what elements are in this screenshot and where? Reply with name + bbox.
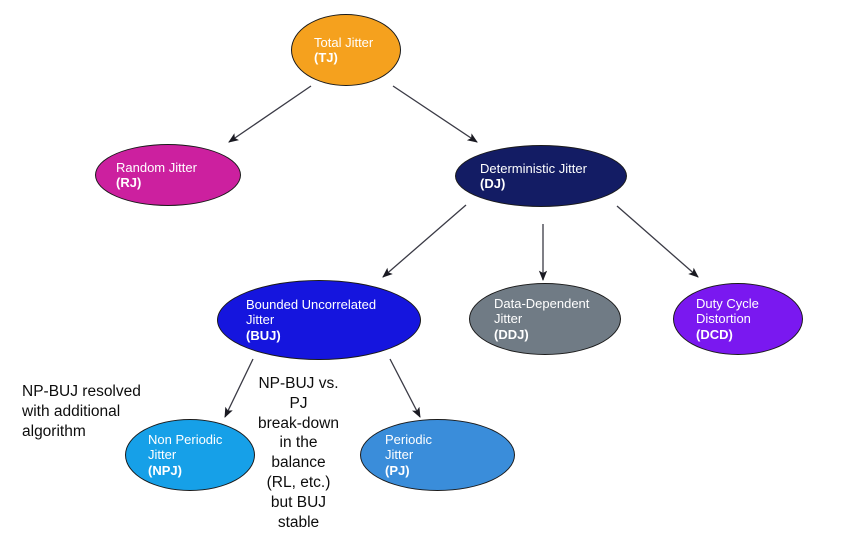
node-label-block: Total Jitter(TJ) bbox=[292, 35, 422, 66]
node-abbreviation: (TJ) bbox=[314, 50, 422, 65]
node-label-line-1: Bounded Uncorrelated bbox=[246, 297, 448, 312]
node-abbreviation: (DJ) bbox=[480, 176, 650, 191]
annotation-line: PJ bbox=[258, 394, 339, 414]
node-bounded-uncorrelated-jitter[interactable]: Bounded UncorrelatedJitter(BUJ) bbox=[217, 280, 421, 360]
node-abbreviation: (BUJ) bbox=[246, 328, 448, 343]
annotation-line: NP-BUJ resolved bbox=[22, 382, 141, 402]
node-abbreviation: (RJ) bbox=[116, 175, 260, 190]
annotation-line: (RL, etc.) bbox=[258, 473, 339, 493]
node-total-jitter[interactable]: Total Jitter(TJ) bbox=[291, 14, 401, 86]
node-label-line-1: Periodic bbox=[385, 432, 538, 447]
node-abbreviation: (DCD) bbox=[696, 327, 824, 342]
annotation-line: balance bbox=[258, 453, 339, 473]
node-label-line-2: Jitter bbox=[246, 312, 448, 327]
node-label-line-1: Data-Dependent bbox=[494, 296, 644, 311]
node-non-periodic-jitter[interactable]: Non PeriodicJitter(NPJ) bbox=[125, 419, 255, 491]
node-label-line-2: Distortion bbox=[696, 311, 824, 326]
annotation-line: NP-BUJ vs. bbox=[258, 374, 339, 394]
annotation-line: with additional bbox=[22, 402, 141, 422]
node-abbreviation: (NPJ) bbox=[148, 463, 276, 478]
node-label-line-1: Duty Cycle bbox=[696, 296, 824, 311]
node-abbreviation: (PJ) bbox=[385, 463, 538, 478]
node-label-block: Random Jitter(RJ) bbox=[96, 160, 260, 191]
edge-tj-to-rj bbox=[229, 86, 311, 142]
annotation-npbuj-vs-pj-note: NP-BUJ vs.PJbreak-downin thebalance(RL, … bbox=[258, 374, 339, 533]
edge-tj-to-dj bbox=[393, 86, 477, 142]
node-label-line-1: Non Periodic bbox=[148, 432, 276, 447]
node-label-line-1: Random Jitter bbox=[116, 160, 260, 175]
node-label-line-1: Total Jitter bbox=[314, 35, 422, 50]
node-label-line-2: Jitter bbox=[385, 447, 538, 462]
annotation-line: but BUJ bbox=[258, 493, 339, 513]
annotation-npbuj-resolution-note: NP-BUJ resolvedwith additionalalgorithm bbox=[22, 382, 141, 441]
node-random-jitter[interactable]: Random Jitter(RJ) bbox=[95, 144, 241, 206]
annotation-line: algorithm bbox=[22, 422, 141, 442]
node-data-dependent-jitter[interactable]: Data-DependentJitter(DDJ) bbox=[469, 283, 621, 355]
node-label-block: Data-DependentJitter(DDJ) bbox=[470, 296, 644, 342]
node-label-line-2: Jitter bbox=[494, 311, 644, 326]
node-label-block: PeriodicJitter(PJ) bbox=[361, 432, 538, 478]
node-abbreviation: (DDJ) bbox=[494, 327, 644, 342]
diagram-canvas: Total Jitter(TJ)Random Jitter(RJ)Determi… bbox=[0, 0, 846, 550]
edge-buj-to-pj bbox=[390, 359, 420, 417]
node-label-block: Bounded UncorrelatedJitter(BUJ) bbox=[218, 297, 448, 343]
annotation-line: break-down bbox=[258, 414, 339, 434]
node-periodic-jitter[interactable]: PeriodicJitter(PJ) bbox=[360, 419, 515, 491]
edge-buj-to-npj bbox=[225, 359, 253, 417]
node-label-line-1: Deterministic Jitter bbox=[480, 161, 650, 176]
node-label-block: Non PeriodicJitter(NPJ) bbox=[126, 432, 276, 478]
annotation-line: in the bbox=[258, 433, 339, 453]
node-duty-cycle-distortion[interactable]: Duty CycleDistortion(DCD) bbox=[673, 283, 803, 355]
edge-dj-to-dcd bbox=[617, 206, 698, 277]
annotation-line: stable bbox=[258, 513, 339, 533]
node-label-line-2: Jitter bbox=[148, 447, 276, 462]
node-deterministic-jitter[interactable]: Deterministic Jitter(DJ) bbox=[455, 145, 627, 207]
node-label-block: Duty CycleDistortion(DCD) bbox=[674, 296, 824, 342]
node-label-block: Deterministic Jitter(DJ) bbox=[456, 161, 650, 192]
edge-dj-to-buj bbox=[383, 205, 466, 277]
